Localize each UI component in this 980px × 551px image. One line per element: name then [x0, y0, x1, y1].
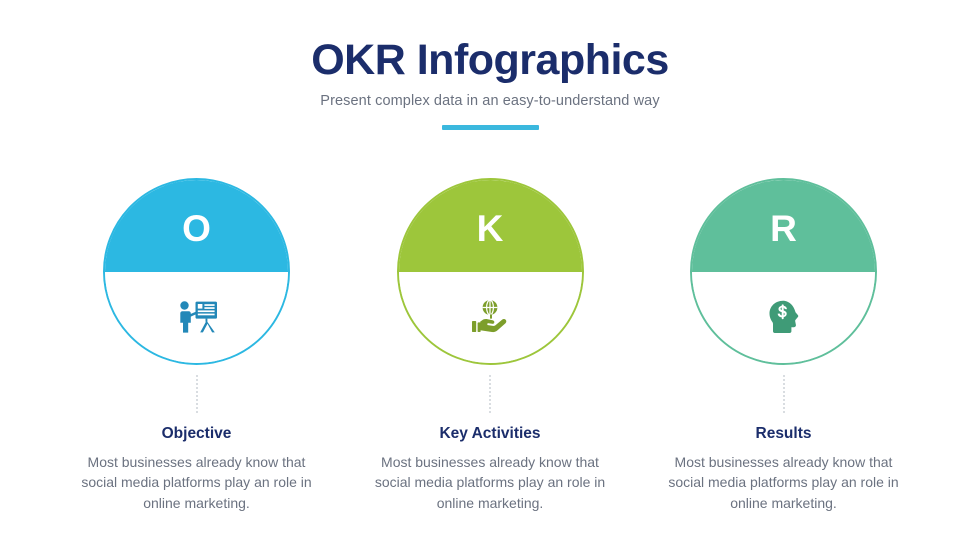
caption-key-activities: Key Activities Most businesses already k… [344, 425, 637, 513]
split-circle: R [690, 178, 877, 365]
okr-column-results[interactable]: R [637, 178, 930, 513]
connector-line [196, 375, 198, 413]
caption-body: Most businesses already know that social… [656, 452, 911, 513]
circle-top-half: R [692, 180, 875, 272]
circle-graphic-objective[interactable]: O [103, 178, 290, 365]
presenter-whiteboard-icon [176, 300, 218, 334]
circle-graphic-results[interactable]: R [690, 178, 877, 365]
caption-title: Results [637, 425, 930, 443]
circle-letter: K [477, 210, 504, 247]
okr-columns: O [0, 178, 980, 513]
caption-body: Most businesses already know that social… [363, 452, 618, 513]
split-circle: O [103, 178, 290, 365]
circle-letter: O [182, 210, 211, 247]
title-underline-rule [442, 125, 539, 130]
hand-holding-globe-icon [470, 299, 510, 335]
page-subtitle: Present complex data in an easy-to-under… [0, 93, 980, 109]
circle-graphic-key-activities[interactable]: K [397, 178, 584, 365]
infographic-slide: OKR Infographics Present complex data in… [0, 0, 980, 551]
connector-line [489, 375, 491, 413]
circle-top-half: O [105, 180, 288, 272]
caption-title: Key Activities [344, 425, 637, 443]
caption-body: Most businesses already know that social… [69, 452, 324, 513]
slide-header: OKR Infographics Present complex data in… [0, 38, 980, 130]
connector-line [783, 375, 785, 413]
caption-results: Results Most businesses already know tha… [637, 425, 930, 513]
caption-title: Objective [50, 425, 343, 443]
circle-letter: R [770, 210, 797, 247]
head-dollar-icon [768, 300, 800, 334]
okr-column-key-activities[interactable]: K [344, 178, 637, 513]
circle-bottom-half [692, 272, 875, 364]
caption-objective: Objective Most businesses already know t… [50, 425, 343, 513]
circle-bottom-half [105, 272, 288, 364]
circle-top-half: K [399, 180, 582, 272]
circle-bottom-half [399, 272, 582, 364]
page-title: OKR Infographics [0, 38, 980, 83]
okr-column-objective[interactable]: O [50, 178, 343, 513]
split-circle: K [397, 178, 584, 365]
